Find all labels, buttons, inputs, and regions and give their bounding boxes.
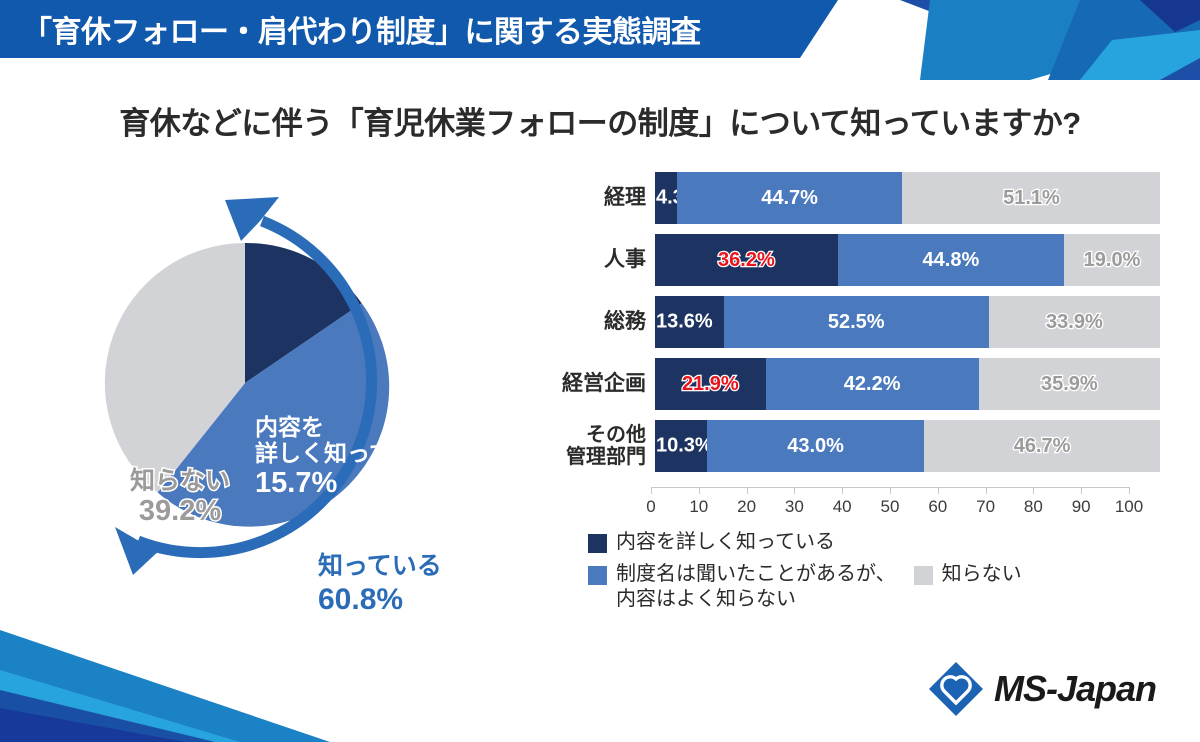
logo-text: MS-Japan <box>994 668 1156 710</box>
x-axis: 0102030405060708090100 <box>646 487 1136 521</box>
x-axis-tick <box>651 487 652 494</box>
bar-row-label: その他 管理部門 <box>560 424 655 468</box>
legend-swatch-icon <box>588 566 607 585</box>
bar-value-know-well: 36.2% <box>718 249 775 272</box>
bar-segment-know-well: 10.3% <box>655 420 707 472</box>
question-text: 育休などに伴う「育児休業フォローの制度」について知っていますか? <box>0 98 1200 143</box>
chart-legend: 内容を詳しく知っている 制度名は聞いたことがあるが、 内容はよく知らない 知らな… <box>588 530 1168 619</box>
bar-track: 21.9% 42.2% 35.9% <box>655 358 1160 410</box>
x-axis-tick-label: 50 <box>881 497 900 517</box>
pie-label-know-well-line2: 詳しく知っている <box>255 440 438 466</box>
bar-value-dont-know: 19.0% <box>1084 249 1141 272</box>
bar-segment-heard-only: 44.8% <box>838 234 1064 286</box>
bar-row-label: 経理 <box>560 186 655 209</box>
x-axis-tick <box>747 487 748 494</box>
bar-segment-dont-know: 46.7% <box>924 420 1160 472</box>
bar-segment-know-well: 4.3% <box>655 172 677 224</box>
x-axis-tick <box>938 487 939 494</box>
bar-segment-dont-know: 35.9% <box>979 358 1160 410</box>
bar-segment-heard-only: 43.0% <box>707 420 924 472</box>
bar-segment-dont-know: 33.9% <box>989 296 1160 348</box>
x-axis-tick-label: 100 <box>1115 497 1143 517</box>
bar-track: 13.6% 52.5% 33.9% <box>655 296 1160 348</box>
bar-row-label: 人事 <box>560 248 655 271</box>
bar-value-know-well: 10.3% <box>656 435 713 458</box>
x-axis-tick <box>890 487 891 494</box>
bar-segment-dont-know: 19.0% <box>1064 234 1160 286</box>
bar-value-dont-know: 51.1% <box>1003 187 1060 210</box>
x-axis-tick-label: 60 <box>928 497 947 517</box>
bar-segment-dont-know: 51.1% <box>902 172 1160 224</box>
bar-track: 10.3% 43.0% 46.7% <box>655 420 1160 472</box>
table-row: その他 管理部門 10.3% 43.0% 46.7% <box>560 420 1160 472</box>
bar-track: 36.2% 44.8% 19.0% <box>655 234 1160 286</box>
table-row: 人事 36.2% 44.8% 19.0% <box>560 234 1160 286</box>
bar-value-heard-only: 52.5% <box>828 311 885 334</box>
pie-label-dont-know: 知らない 39.2% <box>110 467 250 527</box>
pie-label-heard-only-pct: 45.0% <box>233 634 315 666</box>
x-axis-tick <box>842 487 843 494</box>
stacked-bar-chart: 経理 4.3% 44.7% 51.1% 人事 36.2% 44 <box>560 172 1160 502</box>
pie-label-know-well-line1: 内容を <box>255 414 324 440</box>
legend-item-know-well: 内容を詳しく知っている <box>588 530 1168 555</box>
table-row: 経営企画 21.9% 42.2% 35.9% <box>560 358 1160 410</box>
x-axis-tick-label: 30 <box>785 497 804 517</box>
pie-chart: 内容を 詳しく知っている 15.7% 制度名は 聞いたことがあるが、 内容はよく… <box>55 175 555 625</box>
x-axis-tick <box>1033 487 1034 494</box>
legend-swatch-icon <box>588 534 607 553</box>
bar-segment-know-well: 36.2% <box>655 234 838 286</box>
legend-label: 知らない <box>942 562 1022 587</box>
bar-segment-know-well: 21.9% <box>655 358 766 410</box>
pie-label-heard-only-line1: 制度名は <box>233 559 321 584</box>
brand-logo: MS-Japan <box>928 658 1158 720</box>
x-axis-tick-label: 0 <box>646 497 655 517</box>
bar-value-dont-know: 33.9% <box>1046 311 1103 334</box>
x-axis-tick <box>699 487 700 494</box>
ms-japan-diamond-icon <box>928 661 984 717</box>
legend-label: 内容を詳しく知っている <box>616 530 835 555</box>
table-row: 経理 4.3% 44.7% 51.1% <box>560 172 1160 224</box>
bar-row-label: 総務 <box>560 310 655 333</box>
bar-value-dont-know: 46.7% <box>1014 435 1071 458</box>
x-axis-tick <box>1129 487 1130 494</box>
bar-value-heard-only: 44.7% <box>761 187 818 210</box>
bar-segment-heard-only: 42.2% <box>766 358 979 410</box>
pie-label-know-well-pct: 15.7% <box>255 467 337 499</box>
bar-track: 4.3% 44.7% 51.1% <box>655 172 1160 224</box>
bar-value-dont-know: 35.9% <box>1041 373 1098 396</box>
x-axis-tick-label: 90 <box>1072 497 1091 517</box>
bar-value-heard-only: 43.0% <box>787 435 844 458</box>
bar-value-know-well: 13.6% <box>656 311 713 334</box>
x-axis-tick <box>1081 487 1082 494</box>
bar-segment-know-well: 13.6% <box>655 296 724 348</box>
legend-item-heard-only: 制度名は聞いたことがあるが、 内容はよく知らない 知らない <box>588 562 1168 612</box>
bar-segment-heard-only: 44.7% <box>677 172 903 224</box>
table-row: 総務 13.6% 52.5% 33.9% <box>560 296 1160 348</box>
x-axis-tick <box>986 487 987 494</box>
x-axis-tick-label: 40 <box>833 497 852 517</box>
know-total-annotation: 知っている 60.8% <box>318 552 442 617</box>
know-total-pct: 60.8% <box>318 583 403 616</box>
x-axis-tick-label: 20 <box>737 497 756 517</box>
pie-label-know-well: 内容を 詳しく知っている 15.7% <box>255 415 438 499</box>
page-title: 「育休フォロー・肩代わり制度」に関する実態調査 <box>22 6 822 52</box>
x-axis-tick-label: 70 <box>976 497 995 517</box>
x-axis-tick-label: 80 <box>1024 497 1043 517</box>
legend-label: 制度名は聞いたことがあるが、 内容はよく知らない <box>616 562 896 612</box>
bar-segment-heard-only: 52.5% <box>724 296 989 348</box>
x-axis-tick-label: 10 <box>689 497 708 517</box>
pie-graphic <box>55 175 555 625</box>
decoration-top-right <box>780 0 1200 80</box>
infographic-canvas: 「育休フォロー・肩代わり制度」に関する実態調査 育休などに伴う「育児休業フォロー… <box>0 0 1200 742</box>
bar-row-label-text: その他 管理部門 <box>560 424 646 468</box>
bar-value-heard-only: 44.8% <box>923 249 980 272</box>
bar-value-heard-only: 42.2% <box>844 373 901 396</box>
pie-label-dont-know-line1: 知らない <box>130 467 230 495</box>
bar-row-label: 経営企画 <box>560 372 655 395</box>
legend-swatch-icon <box>914 566 933 585</box>
know-total-label: 知っている <box>318 552 442 580</box>
x-axis-tick <box>794 487 795 494</box>
pie-label-dont-know-pct: 39.2% <box>139 495 221 527</box>
bar-value-know-well: 21.9% <box>682 373 739 396</box>
